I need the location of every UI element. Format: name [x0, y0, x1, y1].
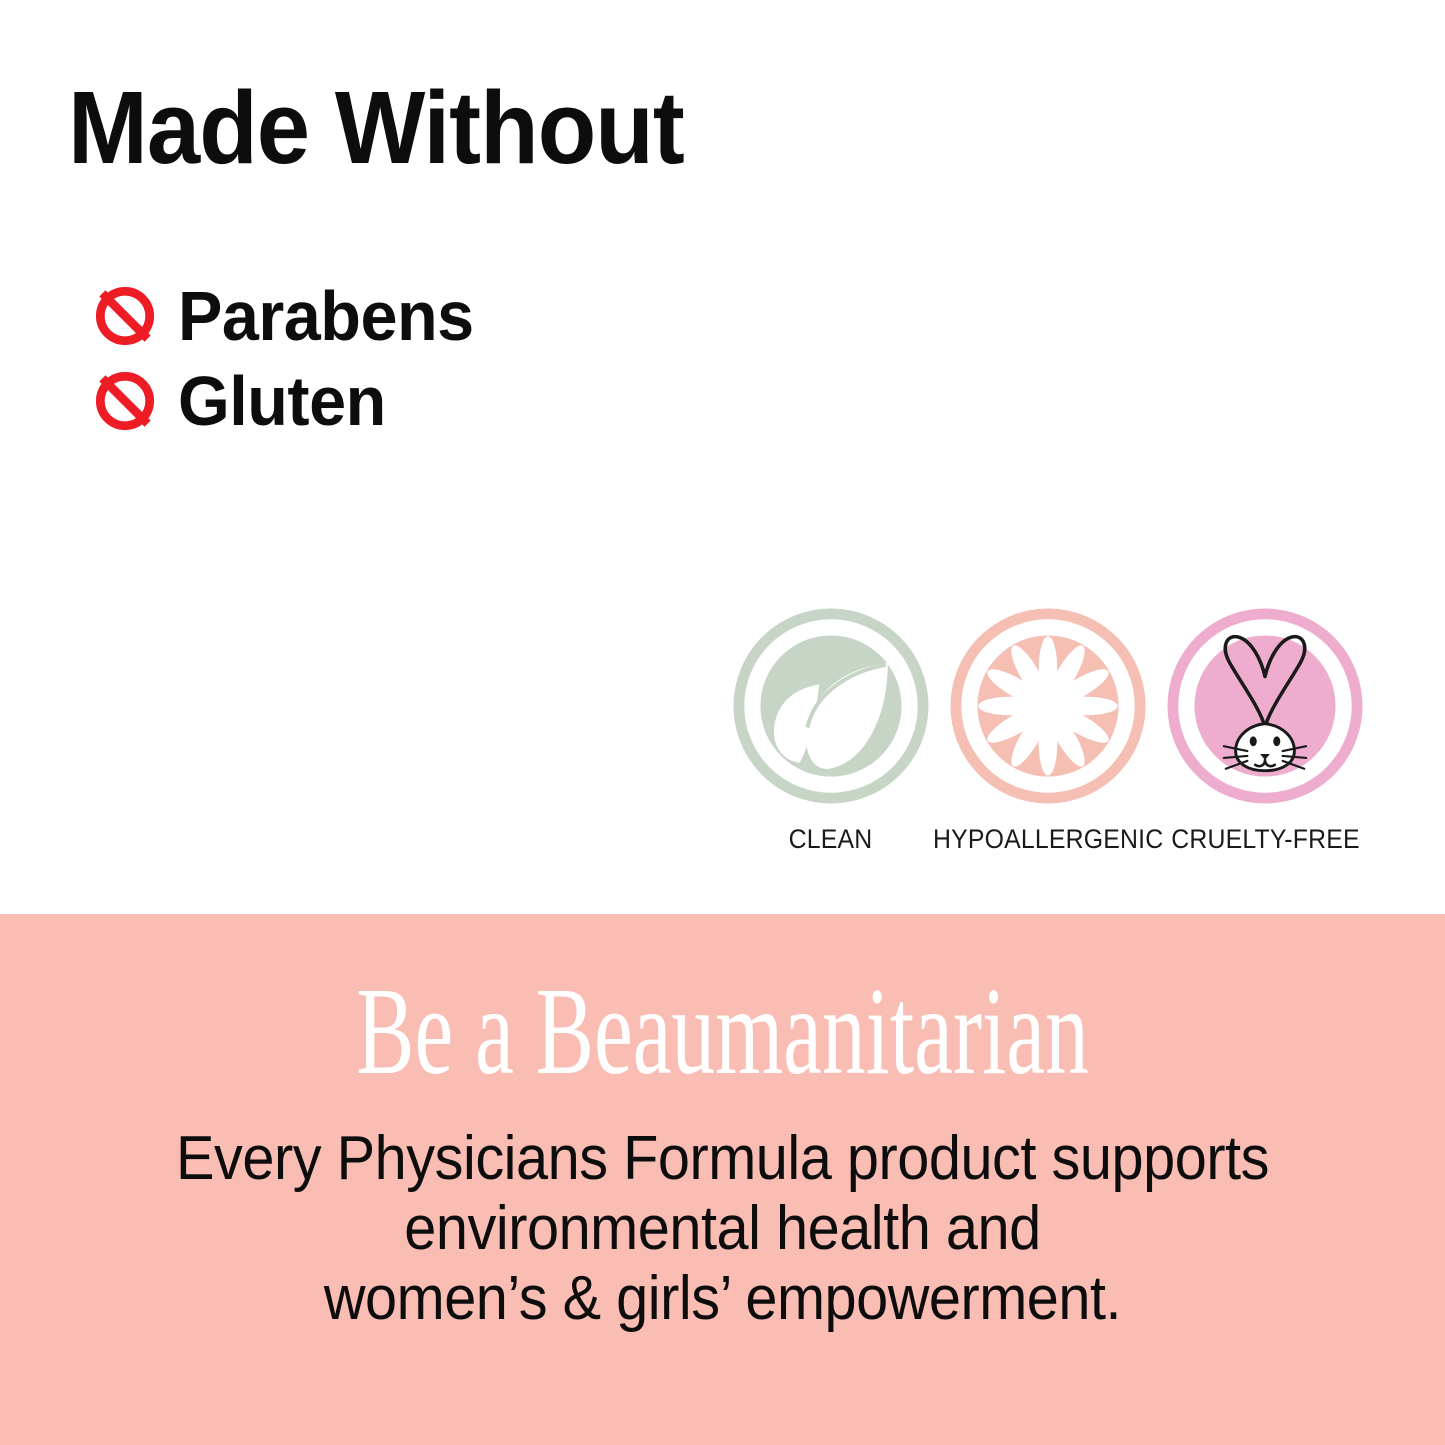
list-item: Parabens [94, 280, 489, 352]
top-white-section: Made Without Parabens Gluten [0, 0, 1445, 914]
prohibition-icon [94, 370, 156, 432]
banner-paragraph-line: women’s & girls’ empowerment. [51, 1264, 1395, 1334]
badge-caption: CRUELTY-FREE [1171, 824, 1360, 855]
badge-hypoallergenic: HYPOALLERGENIC [950, 608, 1146, 855]
made-without-panel: Made Without Parabens Gluten [0, 0, 1445, 1445]
page-title: Made Without [68, 74, 684, 182]
made-without-list: Parabens Gluten [94, 280, 489, 437]
badge-caption: CLEAN [789, 824, 873, 855]
badge-clean: CLEAN [733, 608, 929, 855]
banner-paragraph-line: environmental health and [51, 1194, 1395, 1264]
certification-badge-row: CLEAN [733, 608, 1363, 855]
banner-paragraph: Every Physicians Formula product support… [0, 1124, 1445, 1334]
bunny-heart-icon [1167, 608, 1363, 804]
list-item: Gluten [94, 365, 489, 437]
flower-icon [950, 608, 1146, 804]
prohibition-icon [94, 285, 156, 347]
badge-cruelty-free: CRUELTY-FREE [1167, 608, 1363, 855]
badge-caption: HYPOALLERGENIC [933, 824, 1163, 855]
list-item-label: Parabens [178, 281, 474, 351]
banner-heading: Be a Beaumanitarian [159, 969, 1286, 1094]
leaves-icon [733, 608, 929, 804]
beaumanitarian-banner: Be a Beaumanitarian Every Physicians For… [0, 914, 1445, 1445]
list-item-label: Gluten [178, 366, 386, 436]
banner-paragraph-line: Every Physicians Formula product support… [51, 1124, 1395, 1194]
